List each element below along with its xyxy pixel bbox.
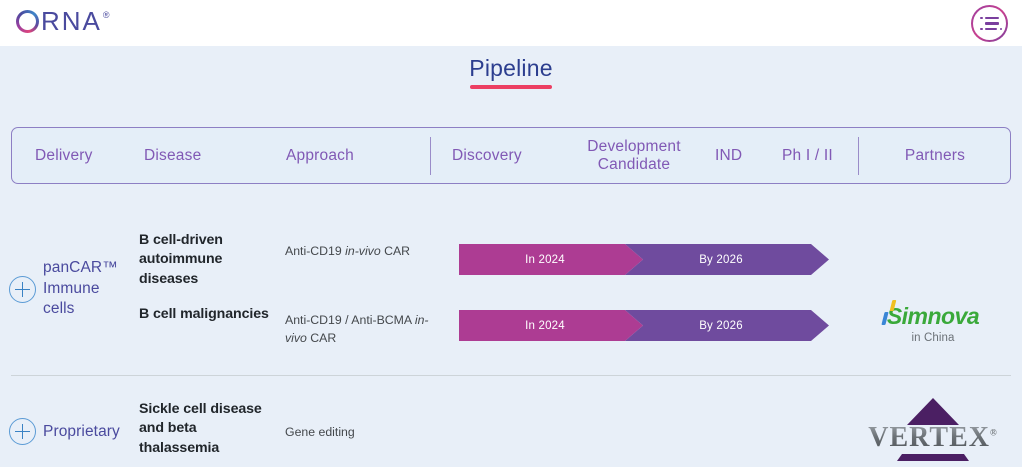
top-bar: RNA®	[0, 0, 1022, 46]
column-header-delivery: Delivery	[35, 128, 145, 183]
milestone-label: In 2024	[525, 254, 565, 266]
page-title-wrap: Pipeline	[0, 55, 1022, 89]
milestone-label: By 2026	[699, 320, 743, 332]
vertex-wordmark: VERTEX®	[868, 424, 997, 452]
logo-wordmark: RNA	[41, 6, 102, 37]
simnova-name: Simnova	[887, 303, 979, 329]
disease-label: Sickle cell disease and beta thalassemia	[139, 400, 274, 458]
menu-dot	[1000, 28, 1003, 31]
simnova-subtitle: in China	[858, 332, 1008, 344]
milestone-segment-1[interactable]: In 2024	[459, 310, 643, 341]
pipeline-page: RNA® Pipeline	[0, 0, 1022, 467]
disease-label: B cell malignancies	[139, 305, 269, 324]
approach-label: Gene editing	[285, 424, 435, 442]
milestone-bar: In 2024 By 2026	[459, 244, 829, 275]
menu-bar	[985, 17, 1000, 19]
milestone-label: By 2026	[699, 254, 743, 266]
menu-bar	[985, 28, 997, 30]
column-header-ind: IND	[715, 128, 775, 183]
plus-circle-icon[interactable]	[9, 418, 36, 445]
menu-dot	[980, 28, 983, 31]
milestone-segment-2[interactable]: By 2026	[625, 244, 829, 275]
menu-line-3	[980, 28, 999, 31]
orna-logo[interactable]: RNA®	[16, 6, 110, 37]
disease-label: B cell-driven autoimmune diseases	[139, 231, 269, 289]
simnova-wordmark: Simnova	[887, 303, 979, 330]
title-underline	[470, 85, 551, 89]
milestone-segment-1[interactable]: In 2024	[459, 244, 643, 275]
menu-bar	[985, 22, 1000, 24]
menu-line-2	[980, 22, 999, 25]
column-header-ph-i-ii: Ph I / II	[782, 128, 862, 183]
milestone-segment-2[interactable]: By 2026	[625, 310, 829, 341]
header-separator-right	[858, 137, 859, 175]
column-header-development-candidate: Development Candidate	[564, 128, 704, 183]
pipeline-table-header: Delivery Disease Approach Discovery Deve…	[11, 127, 1011, 184]
vertex-triangle-icon	[907, 398, 959, 425]
gradient-ring-icon	[16, 10, 39, 33]
delivery-label: panCAR™ Immune cells	[43, 258, 133, 320]
header-separator-left	[430, 137, 431, 175]
vertex-logo: VERTEX®	[868, 398, 997, 461]
menu-line-1	[980, 17, 999, 20]
vertex-trademark: ®	[990, 428, 998, 438]
page-title-text: Pipeline	[469, 55, 552, 81]
logo-trademark: ®	[103, 10, 111, 20]
column-header-approach: Approach	[286, 128, 426, 183]
delivery-label: Proprietary	[43, 422, 138, 443]
menu-glyph	[980, 17, 999, 31]
column-header-partners: Partners	[870, 128, 1000, 183]
plus-circle-icon[interactable]	[9, 276, 36, 303]
column-header-disease: Disease	[144, 128, 274, 183]
column-header-discovery: Discovery	[452, 128, 557, 183]
milestone-bar: In 2024 By 2026	[459, 310, 829, 341]
hamburger-menu-icon[interactable]	[971, 5, 1008, 42]
page-title: Pipeline	[469, 55, 552, 89]
row-divider	[11, 375, 1011, 376]
approach-label: Anti-CD19 / Anti-BCMA in-vivo CAR	[285, 312, 435, 348]
menu-dot	[980, 17, 983, 20]
vertex-base-icon	[897, 454, 969, 461]
partner-logo-simnova: Simnova in China	[858, 303, 1008, 344]
approach-label: Anti-CD19 in-vivo CAR	[285, 243, 425, 261]
milestone-label: In 2024	[525, 320, 565, 332]
partner-logo-vertex: VERTEX®	[858, 398, 1008, 461]
